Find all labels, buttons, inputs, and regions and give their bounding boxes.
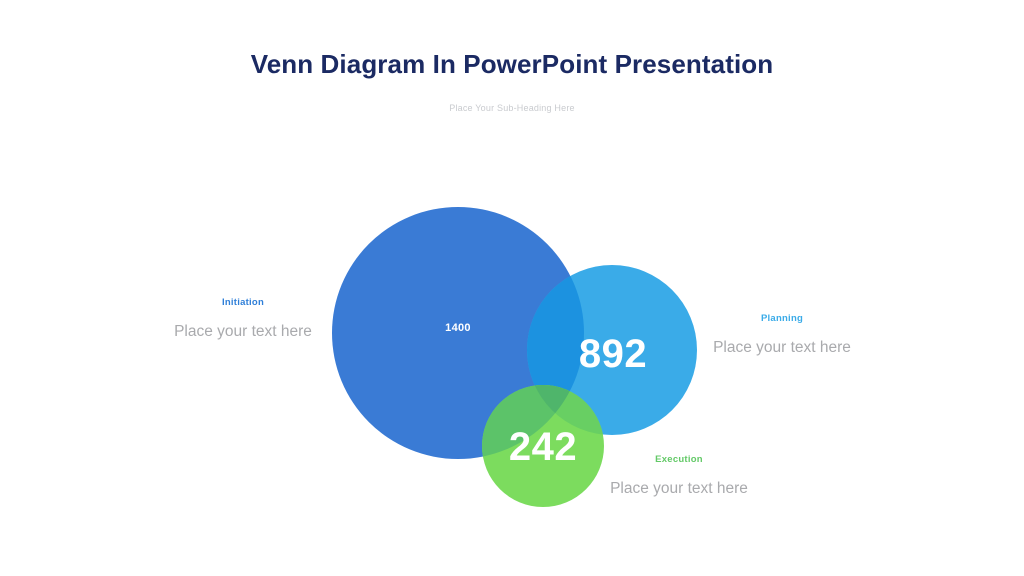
legend-body-planning: Place your text here [702, 336, 862, 359]
legend-item-execution: Execution Place your text here [599, 453, 759, 500]
legend-item-planning: Planning Place your text here [702, 312, 862, 359]
venn-diagram: 1400 892 242 [0, 0, 1024, 576]
slide-canvas: Venn Diagram In PowerPoint Presentation … [0, 0, 1024, 576]
legend-heading-initiation: Initiation [163, 296, 323, 310]
legend-heading-execution: Execution [599, 453, 759, 467]
legend-body-execution: Place your text here [599, 477, 759, 500]
legend-body-initiation: Place your text here [163, 320, 323, 343]
legend-heading-planning: Planning [702, 312, 862, 326]
legend-item-initiation: Initiation Place your text here [163, 296, 323, 343]
venn-graphic [0, 0, 1024, 576]
